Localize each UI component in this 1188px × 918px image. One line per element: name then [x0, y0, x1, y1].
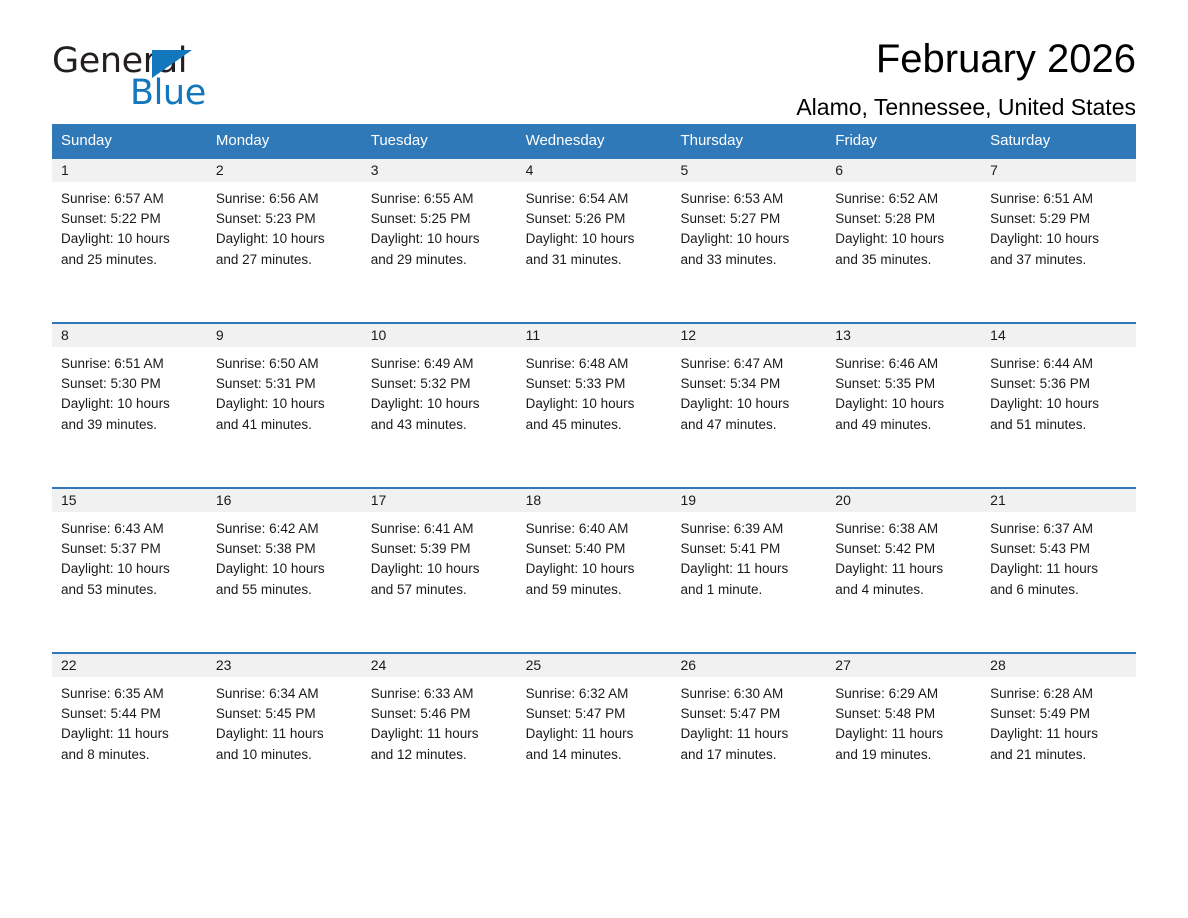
daylight-text-line1: Daylight: 10 hours: [61, 394, 198, 414]
day-number: 16: [207, 489, 362, 512]
day-cell[interactable]: 16 Sunrise: 6:42 AM Sunset: 5:38 PM Dayl…: [207, 489, 362, 652]
day-number: 14: [981, 324, 1136, 347]
sunset-text: Sunset: 5:46 PM: [371, 704, 508, 724]
daylight-text-line1: Daylight: 10 hours: [371, 229, 508, 249]
daylight-text-line1: Daylight: 10 hours: [61, 229, 198, 249]
day-number: 5: [671, 159, 826, 182]
day-number: 19: [671, 489, 826, 512]
day-details: Sunrise: 6:50 AM Sunset: 5:31 PM Dayligh…: [207, 347, 362, 435]
daylight-text-line1: Daylight: 11 hours: [680, 724, 817, 744]
day-cell[interactable]: 1 Sunrise: 6:57 AM Sunset: 5:22 PM Dayli…: [52, 159, 207, 322]
weekday-header-tuesday: Tuesday: [362, 124, 517, 157]
day-details: Sunrise: 6:39 AM Sunset: 5:41 PM Dayligh…: [671, 512, 826, 600]
day-cell[interactable]: 14 Sunrise: 6:44 AM Sunset: 5:36 PM Dayl…: [981, 324, 1136, 487]
daylight-text-line2: and 1 minute.: [680, 580, 817, 600]
daylight-text-line2: and 41 minutes.: [216, 415, 353, 435]
day-details: Sunrise: 6:29 AM Sunset: 5:48 PM Dayligh…: [826, 677, 981, 765]
daylight-text-line1: Daylight: 10 hours: [216, 559, 353, 579]
general-blue-logo[interactable]: General Blue: [52, 42, 262, 112]
weekday-header-friday: Friday: [826, 124, 981, 157]
daylight-text-line2: and 53 minutes.: [61, 580, 198, 600]
daylight-text-line1: Daylight: 11 hours: [990, 724, 1127, 744]
weekday-header-monday: Monday: [207, 124, 362, 157]
day-details: Sunrise: 6:56 AM Sunset: 5:23 PM Dayligh…: [207, 182, 362, 270]
daylight-text-line1: Daylight: 10 hours: [680, 394, 817, 414]
sunset-text: Sunset: 5:23 PM: [216, 209, 353, 229]
daylight-text-line2: and 8 minutes.: [61, 745, 198, 765]
page-header: General Blue February 2026 Alamo, Tennes…: [52, 0, 1136, 112]
daylight-text-line1: Daylight: 11 hours: [61, 724, 198, 744]
daylight-text-line2: and 55 minutes.: [216, 580, 353, 600]
day-details: Sunrise: 6:46 AM Sunset: 5:35 PM Dayligh…: [826, 347, 981, 435]
daylight-text-line2: and 39 minutes.: [61, 415, 198, 435]
sunrise-text: Sunrise: 6:49 AM: [371, 354, 508, 374]
calendar-page: General Blue February 2026 Alamo, Tennes…: [0, 0, 1188, 918]
day-cell[interactable]: 26 Sunrise: 6:30 AM Sunset: 5:47 PM Dayl…: [671, 654, 826, 817]
day-details: Sunrise: 6:40 AM Sunset: 5:40 PM Dayligh…: [517, 512, 672, 600]
daylight-text-line2: and 27 minutes.: [216, 250, 353, 270]
daylight-text-line1: Daylight: 11 hours: [680, 559, 817, 579]
sunrise-text: Sunrise: 6:28 AM: [990, 684, 1127, 704]
sunrise-text: Sunrise: 6:42 AM: [216, 519, 353, 539]
daylight-text-line2: and 12 minutes.: [371, 745, 508, 765]
sunset-text: Sunset: 5:28 PM: [835, 209, 972, 229]
daylight-text-line1: Daylight: 11 hours: [835, 724, 972, 744]
sunrise-text: Sunrise: 6:51 AM: [61, 354, 198, 374]
day-cell[interactable]: 10 Sunrise: 6:49 AM Sunset: 5:32 PM Dayl…: [362, 324, 517, 487]
sunset-text: Sunset: 5:26 PM: [526, 209, 663, 229]
daylight-text-line2: and 35 minutes.: [835, 250, 972, 270]
daylight-text-line1: Daylight: 11 hours: [216, 724, 353, 744]
day-number: 17: [362, 489, 517, 512]
day-number: 9: [207, 324, 362, 347]
day-cell[interactable]: 17 Sunrise: 6:41 AM Sunset: 5:39 PM Dayl…: [362, 489, 517, 652]
daylight-text-line2: and 4 minutes.: [835, 580, 972, 600]
day-number: 21: [981, 489, 1136, 512]
sunset-text: Sunset: 5:25 PM: [371, 209, 508, 229]
day-number: 7: [981, 159, 1136, 182]
sunrise-text: Sunrise: 6:50 AM: [216, 354, 353, 374]
day-details: Sunrise: 6:57 AM Sunset: 5:22 PM Dayligh…: [52, 182, 207, 270]
daylight-text-line2: and 33 minutes.: [680, 250, 817, 270]
day-cell[interactable]: 8 Sunrise: 6:51 AM Sunset: 5:30 PM Dayli…: [52, 324, 207, 487]
sunset-text: Sunset: 5:44 PM: [61, 704, 198, 724]
day-cell[interactable]: 5 Sunrise: 6:53 AM Sunset: 5:27 PM Dayli…: [671, 159, 826, 322]
sunset-text: Sunset: 5:41 PM: [680, 539, 817, 559]
daylight-text-line1: Daylight: 10 hours: [216, 394, 353, 414]
day-details: Sunrise: 6:35 AM Sunset: 5:44 PM Dayligh…: [52, 677, 207, 765]
day-number: 2: [207, 159, 362, 182]
daylight-text-line1: Daylight: 10 hours: [990, 394, 1127, 414]
sunset-text: Sunset: 5:32 PM: [371, 374, 508, 394]
sunrise-text: Sunrise: 6:32 AM: [526, 684, 663, 704]
day-details: Sunrise: 6:41 AM Sunset: 5:39 PM Dayligh…: [362, 512, 517, 600]
day-number: 20: [826, 489, 981, 512]
day-number: 24: [362, 654, 517, 677]
daylight-text-line2: and 17 minutes.: [680, 745, 817, 765]
daylight-text-line1: Daylight: 11 hours: [526, 724, 663, 744]
page-title: February 2026: [796, 36, 1136, 82]
weekday-header-thursday: Thursday: [671, 124, 826, 157]
daylight-text-line2: and 37 minutes.: [990, 250, 1127, 270]
calendar-table: Sunday Monday Tuesday Wednesday Thursday…: [52, 124, 1136, 817]
day-number: 4: [517, 159, 672, 182]
page-subtitle: Alamo, Tennessee, United States: [796, 94, 1136, 121]
day-number: 13: [826, 324, 981, 347]
day-cell[interactable]: 7 Sunrise: 6:51 AM Sunset: 5:29 PM Dayli…: [981, 159, 1136, 322]
day-details: Sunrise: 6:42 AM Sunset: 5:38 PM Dayligh…: [207, 512, 362, 600]
daylight-text-line2: and 21 minutes.: [990, 745, 1127, 765]
day-details: Sunrise: 6:43 AM Sunset: 5:37 PM Dayligh…: [52, 512, 207, 600]
sunrise-text: Sunrise: 6:52 AM: [835, 189, 972, 209]
day-cell[interactable]: 24 Sunrise: 6:33 AM Sunset: 5:46 PM Dayl…: [362, 654, 517, 817]
day-cell[interactable]: 9 Sunrise: 6:50 AM Sunset: 5:31 PM Dayli…: [207, 324, 362, 487]
sunset-text: Sunset: 5:42 PM: [835, 539, 972, 559]
title-block: February 2026 Alamo, Tennessee, United S…: [796, 0, 1136, 121]
sunset-text: Sunset: 5:48 PM: [835, 704, 972, 724]
daylight-text-line1: Daylight: 10 hours: [835, 394, 972, 414]
daylight-text-line2: and 43 minutes.: [371, 415, 508, 435]
sunset-text: Sunset: 5:33 PM: [526, 374, 663, 394]
daylight-text-line2: and 10 minutes.: [216, 745, 353, 765]
daylight-text-line2: and 45 minutes.: [526, 415, 663, 435]
logo-text-blue: Blue: [130, 74, 206, 112]
day-details: Sunrise: 6:47 AM Sunset: 5:34 PM Dayligh…: [671, 347, 826, 435]
day-cell[interactable]: 12 Sunrise: 6:47 AM Sunset: 5:34 PM Dayl…: [671, 324, 826, 487]
sunset-text: Sunset: 5:47 PM: [526, 704, 663, 724]
day-details: Sunrise: 6:30 AM Sunset: 5:47 PM Dayligh…: [671, 677, 826, 765]
day-details: Sunrise: 6:51 AM Sunset: 5:29 PM Dayligh…: [981, 182, 1136, 270]
day-number: 25: [517, 654, 672, 677]
sunset-text: Sunset: 5:39 PM: [371, 539, 508, 559]
day-cell[interactable]: 11 Sunrise: 6:48 AM Sunset: 5:33 PM Dayl…: [517, 324, 672, 487]
day-details: Sunrise: 6:52 AM Sunset: 5:28 PM Dayligh…: [826, 182, 981, 270]
day-details: Sunrise: 6:32 AM Sunset: 5:47 PM Dayligh…: [517, 677, 672, 765]
day-cell[interactable]: 25 Sunrise: 6:32 AM Sunset: 5:47 PM Dayl…: [517, 654, 672, 817]
daylight-text-line1: Daylight: 10 hours: [216, 229, 353, 249]
sunset-text: Sunset: 5:36 PM: [990, 374, 1127, 394]
daylight-text-line1: Daylight: 10 hours: [680, 229, 817, 249]
sunset-text: Sunset: 5:22 PM: [61, 209, 198, 229]
day-details: Sunrise: 6:38 AM Sunset: 5:42 PM Dayligh…: [826, 512, 981, 600]
daylight-text-line2: and 57 minutes.: [371, 580, 508, 600]
day-number: 3: [362, 159, 517, 182]
sunset-text: Sunset: 5:37 PM: [61, 539, 198, 559]
daylight-text-line2: and 59 minutes.: [526, 580, 663, 600]
day-cell[interactable]: 13 Sunrise: 6:46 AM Sunset: 5:35 PM Dayl…: [826, 324, 981, 487]
daylight-text-line1: Daylight: 10 hours: [526, 559, 663, 579]
day-cell[interactable]: 18 Sunrise: 6:40 AM Sunset: 5:40 PM Dayl…: [517, 489, 672, 652]
daylight-text-line2: and 49 minutes.: [835, 415, 972, 435]
sunset-text: Sunset: 5:49 PM: [990, 704, 1127, 724]
day-details: Sunrise: 6:54 AM Sunset: 5:26 PM Dayligh…: [517, 182, 672, 270]
day-cell[interactable]: 4 Sunrise: 6:54 AM Sunset: 5:26 PM Dayli…: [517, 159, 672, 322]
daylight-text-line1: Daylight: 10 hours: [835, 229, 972, 249]
daylight-text-line1: Daylight: 10 hours: [61, 559, 198, 579]
day-number: 15: [52, 489, 207, 512]
weekday-header-sunday: Sunday: [52, 124, 207, 157]
day-details: Sunrise: 6:48 AM Sunset: 5:33 PM Dayligh…: [517, 347, 672, 435]
day-number: 10: [362, 324, 517, 347]
sunrise-text: Sunrise: 6:43 AM: [61, 519, 198, 539]
sunrise-text: Sunrise: 6:30 AM: [680, 684, 817, 704]
day-number: 11: [517, 324, 672, 347]
day-cell[interactable]: 23 Sunrise: 6:34 AM Sunset: 5:45 PM Dayl…: [207, 654, 362, 817]
day-details: Sunrise: 6:33 AM Sunset: 5:46 PM Dayligh…: [362, 677, 517, 765]
day-cell[interactable]: 20 Sunrise: 6:38 AM Sunset: 5:42 PM Dayl…: [826, 489, 981, 652]
day-cell[interactable]: 27 Sunrise: 6:29 AM Sunset: 5:48 PM Dayl…: [826, 654, 981, 817]
day-details: Sunrise: 6:34 AM Sunset: 5:45 PM Dayligh…: [207, 677, 362, 765]
sunrise-text: Sunrise: 6:56 AM: [216, 189, 353, 209]
sunrise-text: Sunrise: 6:55 AM: [371, 189, 508, 209]
daylight-text-line2: and 31 minutes.: [526, 250, 663, 270]
daylight-text-line1: Daylight: 10 hours: [526, 394, 663, 414]
weekday-header-wednesday: Wednesday: [517, 124, 672, 157]
daylight-text-line1: Daylight: 10 hours: [990, 229, 1127, 249]
week-row: 22 Sunrise: 6:35 AM Sunset: 5:44 PM Dayl…: [52, 652, 1136, 817]
daylight-text-line2: and 25 minutes.: [61, 250, 198, 270]
day-details: Sunrise: 6:51 AM Sunset: 5:30 PM Dayligh…: [52, 347, 207, 435]
day-number: 27: [826, 654, 981, 677]
day-number: 8: [52, 324, 207, 347]
sunrise-text: Sunrise: 6:47 AM: [680, 354, 817, 374]
day-details: Sunrise: 6:44 AM Sunset: 5:36 PM Dayligh…: [981, 347, 1136, 435]
daylight-text-line1: Daylight: 11 hours: [371, 724, 508, 744]
daylight-text-line2: and 29 minutes.: [371, 250, 508, 270]
daylight-text-line1: Daylight: 10 hours: [371, 394, 508, 414]
day-number: 1: [52, 159, 207, 182]
sunset-text: Sunset: 5:38 PM: [216, 539, 353, 559]
day-number: 23: [207, 654, 362, 677]
day-cell[interactable]: 2 Sunrise: 6:56 AM Sunset: 5:23 PM Dayli…: [207, 159, 362, 322]
sunset-text: Sunset: 5:40 PM: [526, 539, 663, 559]
daylight-text-line2: and 19 minutes.: [835, 745, 972, 765]
sunrise-text: Sunrise: 6:51 AM: [990, 189, 1127, 209]
sunrise-text: Sunrise: 6:41 AM: [371, 519, 508, 539]
sunrise-text: Sunrise: 6:44 AM: [990, 354, 1127, 374]
sunset-text: Sunset: 5:35 PM: [835, 374, 972, 394]
sunset-text: Sunset: 5:47 PM: [680, 704, 817, 724]
daylight-text-line2: and 14 minutes.: [526, 745, 663, 765]
day-cell[interactable]: 6 Sunrise: 6:52 AM Sunset: 5:28 PM Dayli…: [826, 159, 981, 322]
sunrise-text: Sunrise: 6:54 AM: [526, 189, 663, 209]
day-cell[interactable]: 28 Sunrise: 6:28 AM Sunset: 5:49 PM Dayl…: [981, 654, 1136, 817]
daylight-text-line1: Daylight: 10 hours: [526, 229, 663, 249]
sunrise-text: Sunrise: 6:37 AM: [990, 519, 1127, 539]
weekday-header-row: Sunday Monday Tuesday Wednesday Thursday…: [52, 124, 1136, 157]
day-cell[interactable]: 19 Sunrise: 6:39 AM Sunset: 5:41 PM Dayl…: [671, 489, 826, 652]
sunset-text: Sunset: 5:43 PM: [990, 539, 1127, 559]
day-details: Sunrise: 6:49 AM Sunset: 5:32 PM Dayligh…: [362, 347, 517, 435]
daylight-text-line1: Daylight: 11 hours: [835, 559, 972, 579]
daylight-text-line2: and 51 minutes.: [990, 415, 1127, 435]
daylight-text-line2: and 6 minutes.: [990, 580, 1127, 600]
sunrise-text: Sunrise: 6:46 AM: [835, 354, 972, 374]
daylight-text-line1: Daylight: 10 hours: [371, 559, 508, 579]
day-cell[interactable]: 21 Sunrise: 6:37 AM Sunset: 5:43 PM Dayl…: [981, 489, 1136, 652]
sunrise-text: Sunrise: 6:57 AM: [61, 189, 198, 209]
day-cell[interactable]: 3 Sunrise: 6:55 AM Sunset: 5:25 PM Dayli…: [362, 159, 517, 322]
daylight-text-line2: and 47 minutes.: [680, 415, 817, 435]
day-number: 28: [981, 654, 1136, 677]
sunrise-text: Sunrise: 6:33 AM: [371, 684, 508, 704]
sunrise-text: Sunrise: 6:34 AM: [216, 684, 353, 704]
day-details: Sunrise: 6:28 AM Sunset: 5:49 PM Dayligh…: [981, 677, 1136, 765]
sunset-text: Sunset: 5:29 PM: [990, 209, 1127, 229]
day-cell[interactable]: 15 Sunrise: 6:43 AM Sunset: 5:37 PM Dayl…: [52, 489, 207, 652]
sunrise-text: Sunrise: 6:40 AM: [526, 519, 663, 539]
day-number: 26: [671, 654, 826, 677]
week-row: 15 Sunrise: 6:43 AM Sunset: 5:37 PM Dayl…: [52, 487, 1136, 652]
day-details: Sunrise: 6:55 AM Sunset: 5:25 PM Dayligh…: [362, 182, 517, 270]
day-number: 18: [517, 489, 672, 512]
day-details: Sunrise: 6:37 AM Sunset: 5:43 PM Dayligh…: [981, 512, 1136, 600]
sunrise-text: Sunrise: 6:29 AM: [835, 684, 972, 704]
sunset-text: Sunset: 5:31 PM: [216, 374, 353, 394]
day-number: 6: [826, 159, 981, 182]
day-details: Sunrise: 6:53 AM Sunset: 5:27 PM Dayligh…: [671, 182, 826, 270]
daylight-text-line1: Daylight: 11 hours: [990, 559, 1127, 579]
sunrise-text: Sunrise: 6:39 AM: [680, 519, 817, 539]
sunset-text: Sunset: 5:34 PM: [680, 374, 817, 394]
sunset-text: Sunset: 5:27 PM: [680, 209, 817, 229]
sunset-text: Sunset: 5:45 PM: [216, 704, 353, 724]
sunrise-text: Sunrise: 6:53 AM: [680, 189, 817, 209]
week-row: 8 Sunrise: 6:51 AM Sunset: 5:30 PM Dayli…: [52, 322, 1136, 487]
sunrise-text: Sunrise: 6:48 AM: [526, 354, 663, 374]
sunrise-text: Sunrise: 6:35 AM: [61, 684, 198, 704]
weekday-header-saturday: Saturday: [981, 124, 1136, 157]
week-row: 1 Sunrise: 6:57 AM Sunset: 5:22 PM Dayli…: [52, 157, 1136, 322]
day-cell[interactable]: 22 Sunrise: 6:35 AM Sunset: 5:44 PM Dayl…: [52, 654, 207, 817]
day-number: 12: [671, 324, 826, 347]
sunrise-text: Sunrise: 6:38 AM: [835, 519, 972, 539]
day-number: 22: [52, 654, 207, 677]
sunset-text: Sunset: 5:30 PM: [61, 374, 198, 394]
